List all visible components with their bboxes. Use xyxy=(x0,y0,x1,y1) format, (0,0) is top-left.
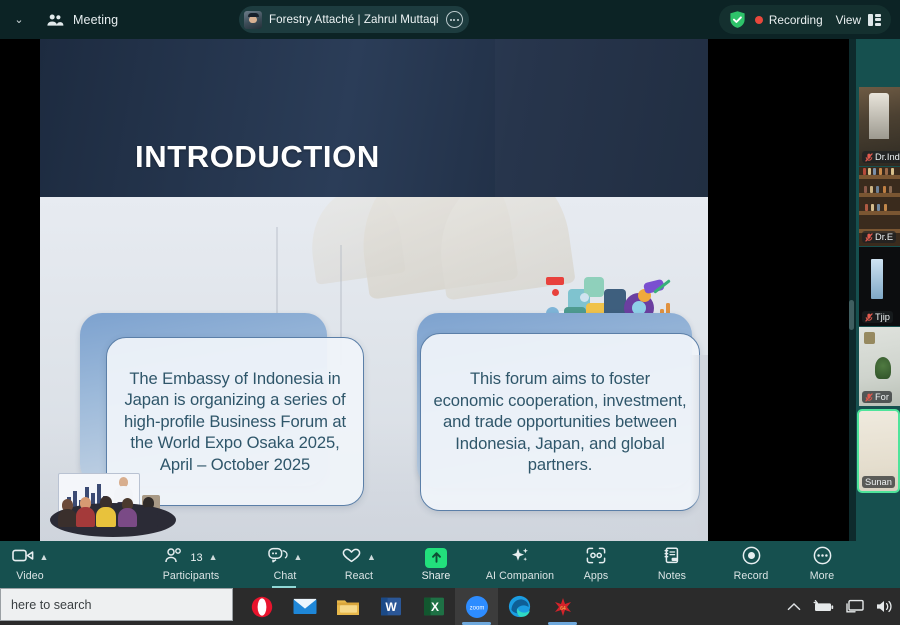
video-tile[interactable]: Dr.Indr xyxy=(859,87,900,166)
control-apps[interactable]: Apps xyxy=(570,541,622,588)
card-left-text: The Embassy of Indonesia in Japan is org… xyxy=(119,368,351,476)
control-video[interactable]: ▲ Video xyxy=(0,541,60,588)
tile-name: Tjip xyxy=(875,312,890,322)
people-icon xyxy=(46,13,64,27)
taskbar-search-input[interactable]: here to search xyxy=(0,588,233,621)
search-placeholder-text: here to search xyxy=(11,598,92,612)
recording-indicator[interactable]: Recording xyxy=(755,13,823,27)
view-label: View xyxy=(836,13,861,27)
control-label: Record xyxy=(734,570,769,582)
zoom-icon[interactable]: zoom xyxy=(455,588,498,625)
active-speaker-name: Forestry Attaché | Zahrul Muttaqi xyxy=(269,13,439,26)
control-react[interactable]: ▲ React xyxy=(330,541,388,588)
participant-avatar xyxy=(244,11,262,29)
control-more[interactable]: More xyxy=(794,541,850,588)
participants-icon xyxy=(164,548,184,568)
collapse-caret-icon[interactable]: ⌄ xyxy=(6,7,32,33)
participants-options-caret-icon[interactable]: ▲ xyxy=(209,553,218,562)
control-notes[interactable]: Notes xyxy=(646,541,698,588)
control-label: Video xyxy=(16,570,43,582)
record-circle-icon xyxy=(742,546,761,570)
recording-label: Recording xyxy=(769,13,823,27)
system-tray xyxy=(787,588,894,625)
mic-muted-icon xyxy=(865,393,873,402)
excel-icon[interactable]: X xyxy=(412,588,455,625)
opera-icon[interactable] xyxy=(240,588,283,625)
meeting-control-bar: ▲ Video 13 ▲ Participants ▲ Chat xyxy=(0,541,900,588)
top-bar-right-group: Recording View xyxy=(719,5,891,34)
control-share[interactable]: Share xyxy=(410,541,462,588)
battery-charging-icon[interactable] xyxy=(812,600,834,614)
video-tile[interactable]: Tjip xyxy=(859,247,900,326)
tile-name: Dr.E xyxy=(875,232,893,242)
file-explorer-icon[interactable] xyxy=(326,588,369,625)
svg-text:64: 64 xyxy=(560,606,566,612)
tile-name: For xyxy=(875,392,889,402)
chat-bubble-icon xyxy=(268,547,288,568)
control-label: More xyxy=(810,570,835,582)
windows-taskbar: here to search W X zoom xyxy=(0,588,900,625)
card-right: This forum aims to foster economic coope… xyxy=(420,333,700,511)
ellipsis-circle-icon xyxy=(813,546,832,570)
video-tile[interactable]: For xyxy=(859,327,900,406)
top-bar-left-group: ⌄ Meeting xyxy=(0,7,118,33)
active-speaker-pill[interactable]: Forestry Attaché | Zahrul Muttaqi xyxy=(239,6,469,33)
tile-name-badge: Dr.E xyxy=(862,231,896,243)
meeting-top-bar: ⌄ Meeting Forestry Attaché | Zahrul Mutt… xyxy=(0,0,900,39)
control-label: Notes xyxy=(658,570,686,582)
control-chat[interactable]: ▲ Chat xyxy=(256,541,314,588)
react-options-caret-icon[interactable]: ▲ xyxy=(367,553,376,562)
mic-muted-icon xyxy=(865,233,873,242)
participant-filmstrip[interactable]: Dr.Indr Dr.E xyxy=(856,39,900,541)
heart-icon xyxy=(342,548,361,568)
mic-muted-icon xyxy=(865,153,873,162)
video-tile-active-speaker[interactable]: Sunan xyxy=(857,409,900,493)
tile-name: Sunan xyxy=(865,477,892,487)
control-record[interactable]: Record xyxy=(722,541,780,588)
share-arrow-up-icon xyxy=(425,548,447,568)
apps-brackets-icon xyxy=(586,547,606,569)
chat-options-caret-icon[interactable]: ▲ xyxy=(294,553,303,562)
volume-icon[interactable] xyxy=(875,599,894,614)
notes-icon xyxy=(663,547,681,569)
tile-name: Dr.Indr xyxy=(875,152,900,162)
seminar-audience-illustration xyxy=(46,469,181,539)
participants-count: 13 xyxy=(190,552,202,564)
camera-icon xyxy=(12,548,34,568)
shield-check-icon[interactable] xyxy=(729,10,746,29)
control-participants[interactable]: 13 ▲ Participants xyxy=(152,541,230,588)
kaspersky-icon[interactable]: 64 xyxy=(541,588,584,625)
mail-icon[interactable] xyxy=(283,588,326,625)
control-label: Chat xyxy=(274,570,297,582)
video-options-caret-icon[interactable]: ▲ xyxy=(40,553,49,562)
ellipsis-circle-icon[interactable] xyxy=(446,11,463,28)
control-label: Participants xyxy=(163,570,220,582)
view-button[interactable]: View xyxy=(836,13,882,27)
taskbar-app-icons: W X zoom 64 xyxy=(240,588,584,625)
mic-muted-icon xyxy=(865,313,873,322)
presentation-slide: INTRODUCTION xyxy=(40,39,708,541)
control-label: Apps xyxy=(584,570,609,582)
tile-name-badge: Dr.Indr xyxy=(862,151,900,163)
control-ai-companion[interactable]: AI Companion xyxy=(474,541,566,588)
control-label: Share xyxy=(422,570,451,582)
slide-right-edge xyxy=(690,355,708,541)
control-label: React xyxy=(345,570,373,582)
layout-icon xyxy=(868,14,882,26)
edge-icon[interactable] xyxy=(498,588,541,625)
network-display-icon[interactable] xyxy=(845,599,864,614)
svg-text:X: X xyxy=(430,600,438,614)
slide-title: INTRODUCTION xyxy=(135,139,380,175)
control-label: AI Companion xyxy=(486,570,554,582)
svg-text:zoom: zoom xyxy=(469,605,484,611)
shared-screen-stage[interactable]: INTRODUCTION xyxy=(0,39,849,541)
svg-text:W: W xyxy=(385,600,397,614)
tile-name-badge: For xyxy=(862,391,892,403)
slide-content-area: The Embassy of Indonesia in Japan is org… xyxy=(40,197,708,541)
tile-name-badge: Sunan xyxy=(862,476,895,488)
word-icon[interactable]: W xyxy=(369,588,412,625)
sparkle-icon xyxy=(510,547,530,569)
recording-dot-icon xyxy=(755,16,763,24)
tile-name-badge: Tjip xyxy=(862,311,893,323)
filmstrip-collapse-handle[interactable] xyxy=(849,300,854,330)
card-right-text: This forum aims to foster economic coope… xyxy=(433,368,687,476)
video-tile[interactable]: Dr.E xyxy=(859,167,900,246)
meeting-label: Meeting xyxy=(73,13,118,27)
zoom-meeting-window: ⌄ Meeting Forestry Attaché | Zahrul Mutt… xyxy=(0,0,900,625)
show-hidden-icons-chevron-icon[interactable] xyxy=(787,602,801,612)
meeting-info-button[interactable]: Meeting xyxy=(46,13,118,27)
